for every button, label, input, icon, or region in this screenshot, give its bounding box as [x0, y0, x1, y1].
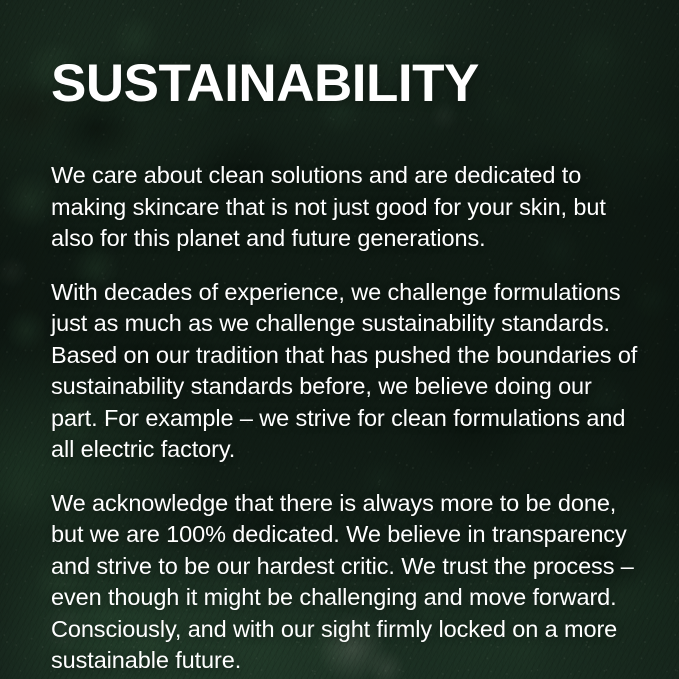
sustainability-banner: SUSTAINABILITY We care about clean solut… [0, 0, 679, 679]
paragraph-transparency-commitment: We acknowledge that there is always more… [51, 488, 643, 677]
page-title: SUSTAINABILITY [51, 57, 479, 111]
body-copy: We care about clean solutions and are de… [51, 160, 643, 677]
paragraph-decades-of-experience: With decades of experience, we challenge… [51, 277, 643, 466]
paragraph-clean-solutions: We care about clean solutions and are de… [51, 160, 643, 255]
content-block: SUSTAINABILITY We care about clean solut… [51, 0, 651, 679]
